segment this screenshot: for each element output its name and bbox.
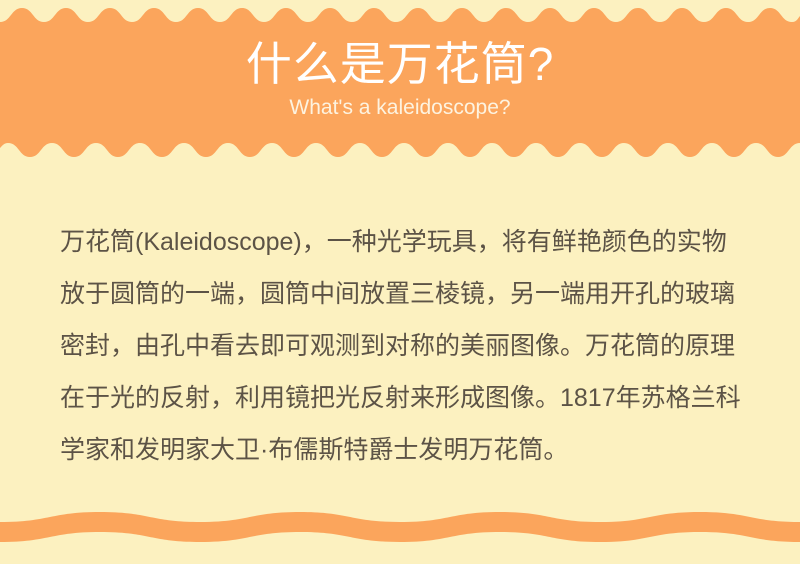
body-line: 学家和发明家大卫·布儒斯特爵士发明万花筒。 — [60, 424, 760, 476]
body-line: 在于光的反射，利用镜把光反射来形成图像。1817年苏格兰科 — [60, 372, 760, 424]
body-line: 万花筒(Kaleidoscope)，一种光学玩具，将有鲜艳颜色的实物 — [60, 216, 760, 268]
header-wave-shape — [0, 0, 800, 160]
footer-ribbon-path — [0, 512, 800, 542]
header-band: 什么是万花筒? What's a kaleidoscope? — [0, 0, 800, 160]
footer-ribbon-shape — [0, 500, 800, 564]
page-root: 什么是万花筒? What's a kaleidoscope? 万花筒(Kalei… — [0, 0, 800, 564]
body-line: 密封，由孔中看去即可观测到对称的美丽图像。万花筒的原理 — [60, 320, 760, 372]
body-paragraph: 万花筒(Kaleidoscope)，一种光学玩具，将有鲜艳颜色的实物 放于圆筒的… — [60, 216, 760, 476]
footer-ribbon — [0, 500, 800, 564]
body-line: 放于圆筒的一端，圆筒中间放置三棱镜，另一端用开孔的玻璃 — [60, 268, 760, 320]
header-band-path — [0, 8, 800, 157]
